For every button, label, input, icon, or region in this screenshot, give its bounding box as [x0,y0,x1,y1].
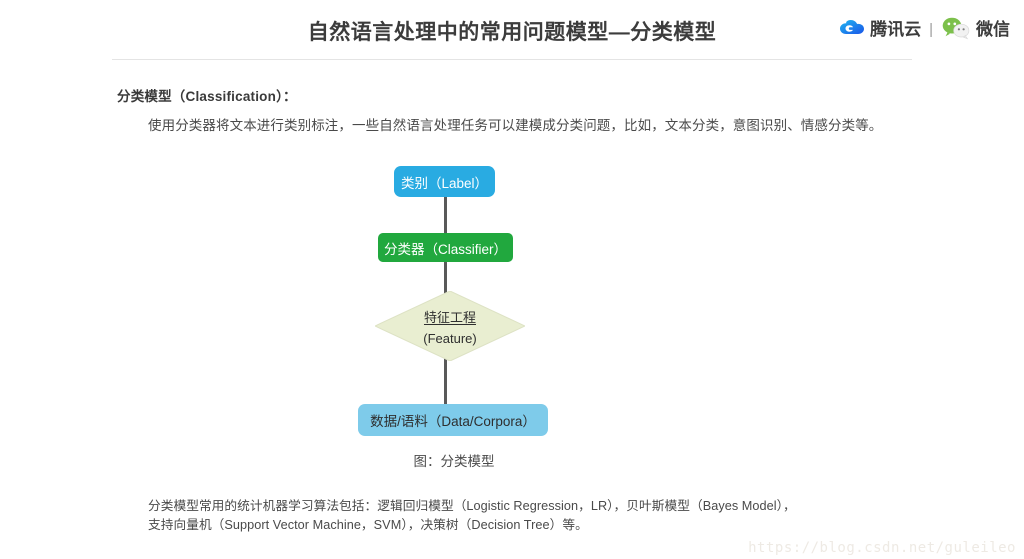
diagram-node-feature-label-cn: 特征工程 [424,307,476,326]
section-heading: 分类模型（Classification）： [117,85,297,105]
brand-label-tencent-cloud: 腾讯云 [870,20,921,40]
csdn-watermark: https://blog.csdn.net/guleileo [748,540,1016,556]
tencent-cloud-logo-icon [839,17,865,44]
slide-header: 自然语言处理中的常用问题模型—分类模型 腾讯云 | [0,0,1024,60]
connector-classifier-to-label [444,194,447,236]
diagram-node-feature[interactable]: 特征工程 (Feature) [375,291,525,361]
diagram-node-label[interactable]: 类别（Label） [394,166,495,197]
connector-feature-to-classifier [444,259,447,295]
brand-bar: 腾讯云 | 微信 [839,16,1010,44]
classification-model-diagram: 类别（Label） 分类器（Classifier） 特征工程 (Feature)… [0,0,1024,559]
diagram-node-feature-text: 特征工程 (Feature) [375,291,525,361]
footer-paragraph: 分类模型常用的统计机器学习算法包括：逻辑回归模型（Logistic Regres… [148,497,808,535]
diagram-node-data[interactable]: 数据/语料（Data/Corpora） [358,404,548,436]
brand-separator: | [929,20,933,40]
intro-paragraph: 使用分类器将文本进行类别标注，一些自然语言处理任务可以建模成分类问题，比如，文本… [148,116,888,136]
connector-data-to-feature [444,356,447,408]
diagram-node-feature-label-en: (Feature) [423,331,476,346]
wechat-logo-icon [941,16,971,45]
brand-label-wechat: 微信 [976,20,1010,40]
header-divider [112,59,912,60]
diagram-node-classifier[interactable]: 分类器（Classifier） [378,233,513,262]
figure-caption: 图：分类模型 [374,450,534,470]
